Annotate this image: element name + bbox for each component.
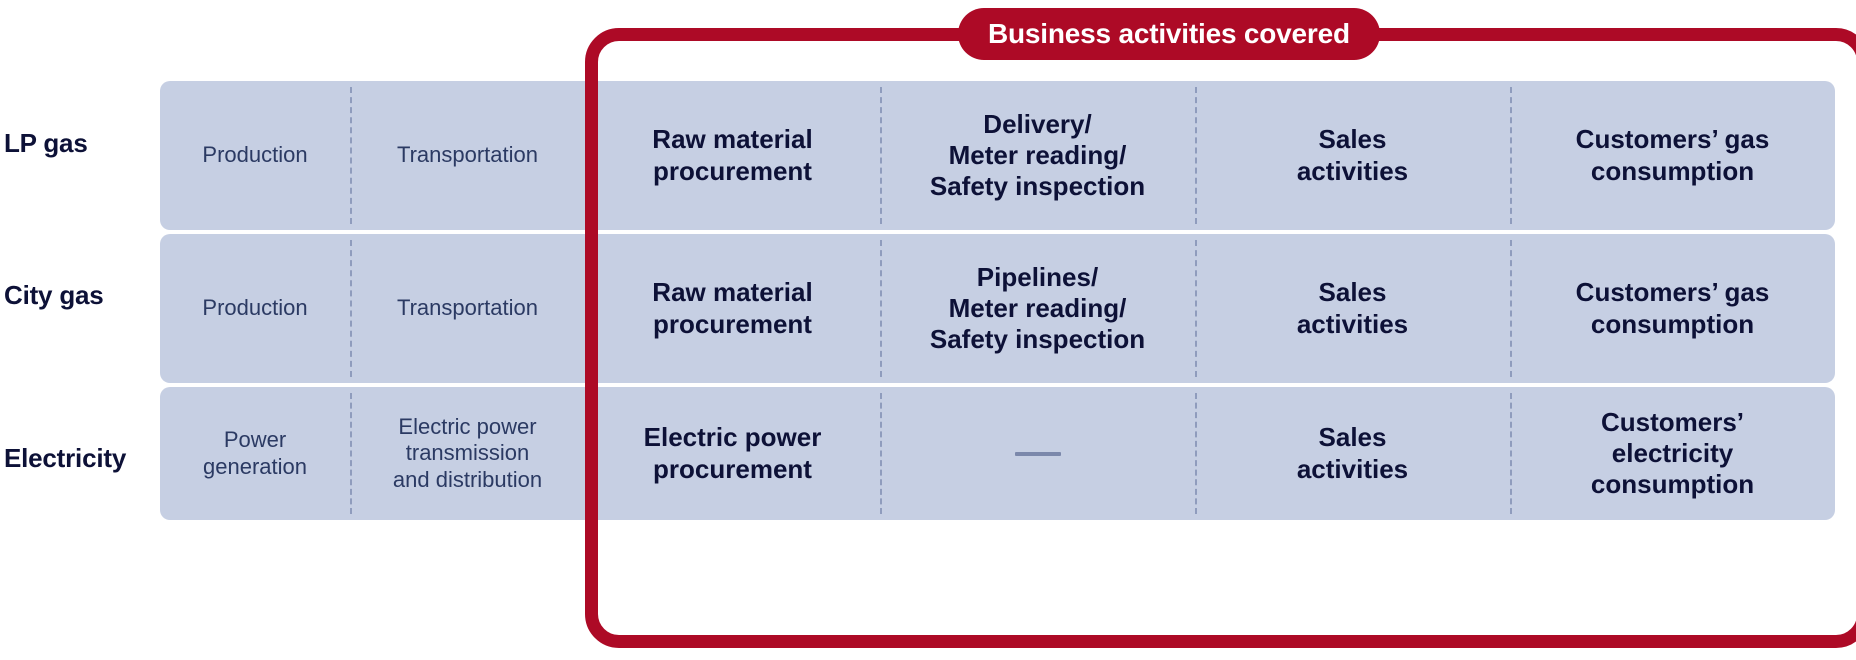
cell-text: Raw material procurement [652,124,812,186]
cell-text: Customers’ gas consumption [1576,277,1770,339]
row-label-text: LP gas [4,128,88,159]
cell-line: generation [203,454,307,479]
cell-text: Transportation [397,295,538,321]
cell-line: procurement [653,454,812,484]
cell-line: Sales [1319,277,1387,307]
em-dash-icon [1015,452,1061,456]
table-row: Production Transportation Raw material p… [160,81,1835,230]
cell-electricity-procurement: Electric power procurement [585,387,880,520]
cell-electricity-sales: Sales activities [1195,387,1510,520]
cell-text: Sales activities [1297,277,1408,339]
cell-line: and distribution [393,467,542,492]
cell-line: electricity [1612,438,1733,468]
cell-line: Raw material [652,124,812,154]
cell-electricity-consumption: Customers’ electricity consumption [1510,387,1835,520]
cell-line: Customers’ gas [1576,277,1770,307]
cell-city-gas-delivery: Pipelines/ Meter reading/ Safety inspect… [880,234,1195,383]
cell-line: Sales [1319,422,1387,452]
cell-text: Sales activities [1297,422,1408,484]
cell-text: Power generation [203,427,307,480]
row-label-electricity: Electricity [0,438,150,478]
cell-lp-gas-transportation: Transportation [350,81,585,230]
business-activities-diagram: LP gas Production Transportation Raw mat… [0,0,1856,660]
cell-line: Pipelines/ [977,262,1098,292]
cell-line: Delivery/ [983,109,1091,139]
cell-line: consumption [1591,309,1754,339]
cell-text: Electric power transmission and distribu… [393,414,542,493]
cell-text: Delivery/ Meter reading/ Safety inspecti… [930,109,1145,203]
cell-lp-gas-sales: Sales activities [1195,81,1510,230]
cell-line: transmission [406,440,529,465]
cell-electricity-delivery-empty [880,387,1195,520]
row-label-text: City gas [4,280,104,311]
cell-line: activities [1297,454,1408,484]
cell-text: Customers’ electricity consumption [1591,407,1754,501]
cell-electricity-transportation: Electric power transmission and distribu… [350,387,585,520]
cell-text: Sales activities [1297,124,1408,186]
cell-electricity-production: Power generation [160,387,350,520]
cell-line: Customers’ [1601,407,1744,437]
table-row: Production Transportation Raw material p… [160,234,1835,383]
cell-city-gas-procurement: Raw material procurement [585,234,880,383]
coverage-badge-label: Business activities covered [988,18,1350,50]
cell-line: Customers’ gas [1576,124,1770,154]
row-label-lp-gas: LP gas [0,123,150,163]
cell-city-gas-sales: Sales activities [1195,234,1510,383]
row-label-city-gas: City gas [0,275,150,315]
cell-line: Raw material [652,277,812,307]
cell-line: Meter reading/ [949,140,1127,170]
cell-line: Safety inspection [930,324,1145,354]
table-row: Power generation Electric power transmis… [160,387,1835,520]
cell-text: Customers’ gas consumption [1576,124,1770,186]
cell-lp-gas-production: Production [160,81,350,230]
cell-city-gas-production: Production [160,234,350,383]
cell-line: procurement [653,309,812,339]
cell-text: Pipelines/ Meter reading/ Safety inspect… [930,262,1145,356]
cell-line: Safety inspection [930,171,1145,201]
cell-line: Power [224,427,286,452]
cell-lp-gas-consumption: Customers’ gas consumption [1510,81,1835,230]
cell-line: consumption [1591,156,1754,186]
cell-line: Meter reading/ [949,293,1127,323]
cell-line: activities [1297,156,1408,186]
cell-text: Raw material procurement [652,277,812,339]
cell-lp-gas-delivery: Delivery/ Meter reading/ Safety inspecti… [880,81,1195,230]
cell-line: Electric power [398,414,536,439]
cell-line: procurement [653,156,812,186]
cell-line: activities [1297,309,1408,339]
cell-text: Production [202,142,307,168]
cell-text: Electric power procurement [644,422,822,484]
coverage-badge: Business activities covered [958,8,1380,60]
cell-text: Production [202,295,307,321]
cell-line: consumption [1591,469,1754,499]
cell-line: Sales [1319,124,1387,154]
cell-city-gas-transportation: Transportation [350,234,585,383]
cell-lp-gas-procurement: Raw material procurement [585,81,880,230]
cell-text: Transportation [397,142,538,168]
row-label-text: Electricity [4,443,126,474]
cell-line: Electric power [644,422,822,452]
cell-city-gas-consumption: Customers’ gas consumption [1510,234,1835,383]
